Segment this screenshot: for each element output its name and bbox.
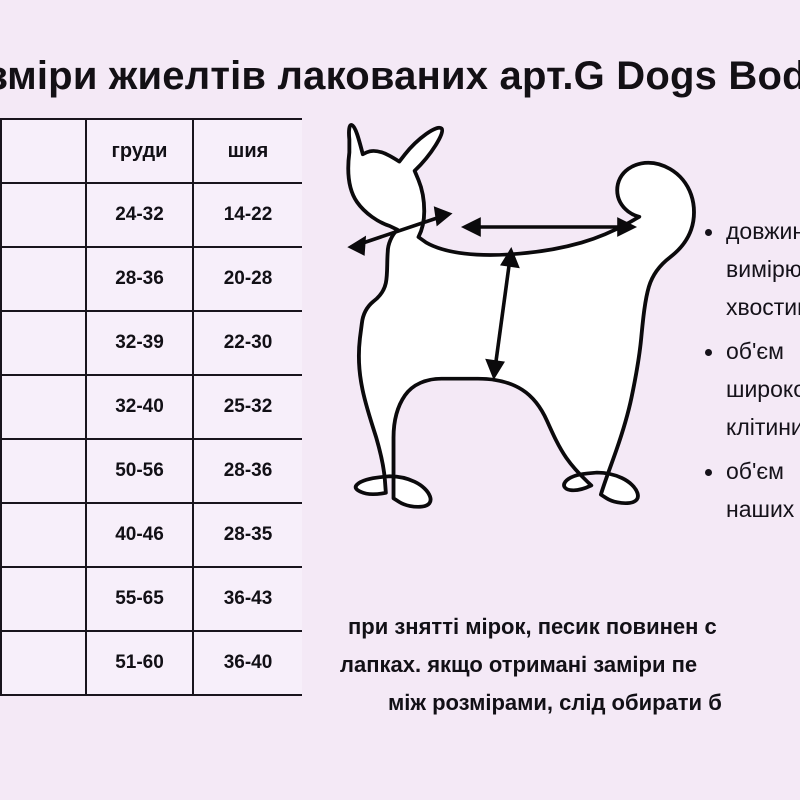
bullet-line: широкої [726, 370, 800, 408]
bullet-line: вимірюється [726, 250, 800, 288]
cell-length [1, 439, 86, 503]
dog-body-outline-icon [348, 125, 694, 507]
list-item: об'єм широкої клітини [700, 332, 800, 446]
size-chart-page: Розміри жиелтів лакованих арт.G Dogs Bod… [0, 0, 800, 800]
bullet-line: наших [726, 490, 800, 528]
table-row: 50-56 28-36 [0, 439, 302, 503]
list-item: довжина вимірюється хвостика [700, 212, 800, 326]
table-row: 24-32 14-22 [0, 183, 302, 247]
cell-chest: 32-40 [86, 375, 193, 439]
list-item: об'єм наших [700, 452, 800, 528]
table-row: 40-46 28-35 [0, 503, 302, 567]
bullet-line: об'єм [726, 452, 800, 490]
cell-length [1, 311, 86, 375]
table-row: 32-40 25-32 [0, 375, 302, 439]
table-row: 28-36 20-28 [0, 247, 302, 311]
cell-neck: 22-30 [193, 311, 302, 375]
cell-length [1, 375, 86, 439]
measurement-bullet-list: довжина вимірюється хвостика об'єм широк… [700, 212, 800, 534]
cell-neck: 14-22 [193, 183, 302, 247]
bullet-line: довжина [726, 212, 800, 250]
cell-neck: 36-40 [193, 631, 302, 695]
cell-chest: 24-32 [86, 183, 193, 247]
cell-neck: 25-32 [193, 375, 302, 439]
dog-diagram [318, 108, 722, 533]
cell-chest: 50-56 [86, 439, 193, 503]
bullet-line: хвостика [726, 288, 800, 326]
note-line: лапках. якщо отримані заміри пе [340, 646, 800, 684]
column-header-neck: шия [193, 119, 302, 183]
cell-chest: 28-36 [86, 247, 193, 311]
cell-neck: 28-35 [193, 503, 302, 567]
page-title-text: Розміри жиелтів лакованих арт.G Dogs Bod… [0, 48, 800, 104]
note-line: між розмірами, слід обирати б [340, 684, 800, 722]
cell-chest: 40-46 [86, 503, 193, 567]
cell-length [1, 183, 86, 247]
table-row: 55-65 36-43 [0, 567, 302, 631]
page-title: Розміри жиелтів лакованих арт.G Dogs Bod… [0, 48, 800, 104]
cell-neck: 36-43 [193, 567, 302, 631]
column-header-chest: груди [86, 119, 193, 183]
bullet-line: об'єм [726, 332, 800, 370]
cell-length [1, 631, 86, 695]
measurement-instructions: при знятті мірок, песик повинен с лапках… [340, 608, 800, 722]
note-line: при знятті мірок, песик повинен с [340, 608, 800, 646]
cell-length [1, 503, 86, 567]
size-table: а груди шия 24-32 14-22 28-36 20-28 [0, 118, 302, 696]
table-header-row: а груди шия [0, 119, 302, 183]
cell-neck: 28-36 [193, 439, 302, 503]
cell-neck: 20-28 [193, 247, 302, 311]
size-table-container: а груди шия 24-32 14-22 28-36 20-28 [0, 118, 302, 696]
cell-length [1, 247, 86, 311]
cell-length [1, 567, 86, 631]
column-header-length [1, 119, 86, 183]
table-row: 51-60 36-40 [0, 631, 302, 695]
cell-chest: 32-39 [86, 311, 193, 375]
cell-chest: 51-60 [86, 631, 193, 695]
bullet-line: клітини [726, 408, 800, 446]
cell-chest: 55-65 [86, 567, 193, 631]
table-row: 32-39 22-30 [0, 311, 302, 375]
